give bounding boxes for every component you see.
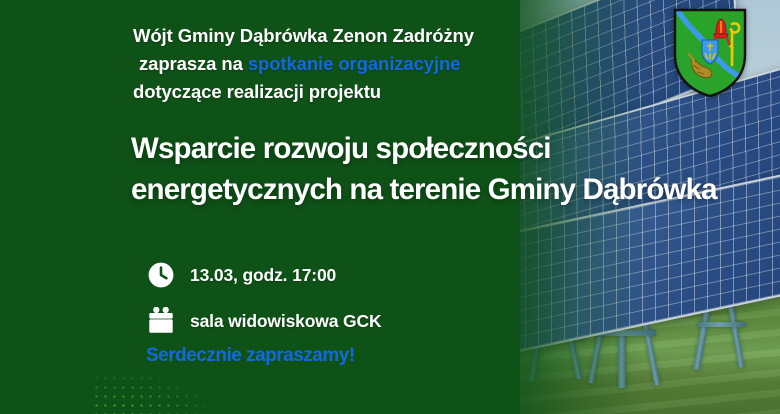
closing-invitation-text: Serdecznie zapraszamy! xyxy=(146,345,355,367)
intro-line-3: dotyczące realizacji projektu xyxy=(133,78,553,106)
event-details-list: 13.03, godz. 17:00 sala widowiskowa GCK xyxy=(147,256,382,348)
clock-icon xyxy=(147,261,175,289)
project-title-line-1: Wsparcie rozwoju społeczności xyxy=(131,128,771,169)
event-time-label: 13.03, godz. 17:00 xyxy=(190,265,336,286)
project-title: Wsparcie rozwoju społeczności energetycz… xyxy=(131,128,771,210)
event-detail-venue: sala widowiskowa GCK xyxy=(147,302,382,340)
intro-text-block: Wójt Gminy Dąbrówka Zenon Zadróżny zapra… xyxy=(133,22,553,106)
intro-line-2: zaprasza na spotkanie organizacyjne xyxy=(133,50,553,78)
project-title-line-2: energetycznych na terenie Gminy Dąbrówka xyxy=(131,169,771,210)
intro-line-2-accent: spotkanie organizacyjne xyxy=(248,53,461,74)
intro-line-1: Wójt Gminy Dąbrówka Zenon Zadróżny xyxy=(133,22,553,50)
intro-line-2-prefix: zaprasza na xyxy=(139,53,248,74)
poster-root: Wójt Gminy Dąbrówka Zenon Zadróżny zapra… xyxy=(0,0,780,414)
calendar-icon xyxy=(147,307,175,335)
event-detail-time: 13.03, godz. 17:00 xyxy=(147,256,382,294)
event-venue-label: sala widowiskowa GCK xyxy=(190,311,382,332)
